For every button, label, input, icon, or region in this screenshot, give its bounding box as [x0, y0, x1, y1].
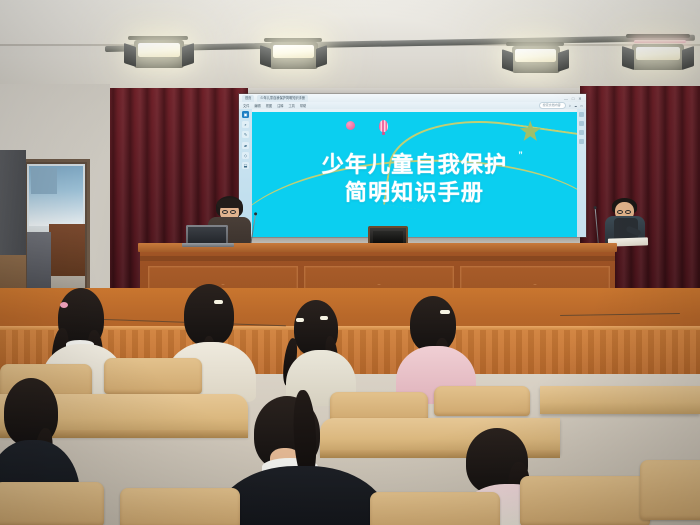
right-tool-sidebar	[577, 109, 586, 237]
stage-light-4	[620, 34, 696, 82]
share-icon[interactable]: ⇪	[569, 104, 572, 108]
student-hair	[410, 296, 456, 352]
desk-row-2-far-right	[540, 386, 700, 414]
app-titlebar: 首页 少年儿童自我保护简明知识手册 — □ ✕	[239, 94, 586, 102]
light-barn-door-left	[260, 45, 271, 68]
light-yoke	[626, 34, 690, 38]
menu-item-view[interactable]: 视图	[266, 103, 272, 108]
hair-clip	[320, 316, 328, 320]
hair-clip	[296, 318, 304, 322]
presentation-slide: ” 少年儿童自我保护 简明知识手册	[252, 112, 577, 237]
light-lamp	[273, 45, 314, 58]
cloud-icon[interactable]: ☁	[574, 104, 577, 108]
chair-back[interactable]	[370, 492, 500, 525]
tab-document[interactable]: 少年儿童自我保护简明知识手册	[257, 95, 308, 102]
slide-title: 少年儿童自我保护 简明知识手册	[252, 152, 577, 208]
highlight-icon[interactable]: ▰	[242, 142, 249, 149]
light-barn-door-left	[622, 46, 634, 70]
layers-icon[interactable]	[579, 130, 584, 135]
student-3	[282, 300, 358, 404]
app-search-area: 搜索文档内容 ⇪ ☁ ▭	[539, 102, 583, 109]
projection-screen: 首页 少年儿童自我保护简明知识手册 — □ ✕ 文件 编辑 视图 注释 工具 帮…	[239, 94, 586, 237]
podium-trim	[140, 256, 615, 261]
slide-title-line-1: 少年儿童自我保护	[322, 153, 508, 178]
seated-man	[612, 198, 656, 250]
light-barn-door-right	[316, 45, 327, 68]
chair-back[interactable]	[0, 482, 104, 525]
light-barn-door-right	[182, 43, 194, 67]
pen-icon[interactable]: ✎	[242, 131, 249, 138]
stamp-icon[interactable]: ⬓	[242, 162, 249, 169]
light-pink-tube	[634, 40, 686, 43]
student-6	[240, 396, 370, 525]
light-barn-door-right	[558, 49, 569, 72]
window-icon	[29, 166, 83, 226]
light-lamp	[636, 47, 680, 60]
app-body: ▣ ⌕ ✎ ▰ ◇ ⬓ ” 少年儿童自我保护 简明知识手册	[239, 109, 586, 237]
light-lamp	[515, 49, 556, 62]
zoom-icon[interactable]: ⌕	[242, 121, 249, 128]
hair-clip	[440, 310, 450, 314]
far-room-desk	[49, 224, 85, 276]
glasses-icon	[222, 210, 228, 214]
pink-balloon-icon	[346, 121, 355, 130]
stage-light-1	[122, 36, 194, 82]
hair-clip	[214, 300, 223, 304]
presenter-fringe	[217, 198, 242, 208]
auditorium-photo: 首页 少年儿童自我保护简明知识手册 — □ ✕ 文件 编辑 视图 注释 工具 帮…	[0, 0, 700, 525]
chair-back[interactable]	[434, 386, 530, 416]
laptop-keyboard	[182, 243, 234, 247]
glasses-icon	[625, 210, 631, 214]
tab-home[interactable]: 首页	[242, 95, 254, 102]
light-barn-door-left	[502, 49, 513, 72]
hot-air-balloon-icon	[379, 120, 388, 132]
chair-back[interactable]	[640, 460, 700, 520]
far-room-chair	[27, 232, 51, 294]
slide-title-line-2: 简明知识手册	[252, 180, 577, 208]
menu-item-edit[interactable]: 编辑	[254, 103, 260, 108]
menu-item-annotate[interactable]: 注释	[277, 103, 283, 108]
bookmark-icon[interactable]	[579, 121, 584, 126]
light-barn-door-right	[682, 46, 694, 70]
stage-light-3	[500, 42, 570, 88]
menu-item-tools[interactable]: 工具	[289, 103, 295, 108]
menu-item-help[interactable]: 帮助	[300, 103, 306, 108]
select-tool-icon[interactable]: ▣	[242, 111, 249, 118]
shape-icon[interactable]: ◇	[242, 152, 249, 159]
settings-icon[interactable]	[579, 139, 584, 144]
window-controls[interactable]: — □ ✕	[564, 96, 583, 101]
glasses-icon	[230, 210, 236, 214]
chair-back[interactable]	[120, 488, 240, 525]
comment-icon[interactable]: ▭	[580, 104, 583, 108]
glasses-icon	[617, 210, 623, 214]
light-lamp	[138, 43, 180, 57]
pink-hair-bow	[60, 302, 68, 308]
thumbnail-icon[interactable]	[579, 112, 584, 117]
menu-item-file[interactable]: 文件	[243, 103, 249, 108]
chair-back[interactable]	[104, 358, 202, 394]
window-blind	[31, 168, 57, 194]
student-dark-uniform	[214, 466, 390, 525]
light-barn-door-left	[124, 43, 136, 67]
chair-back[interactable]	[520, 476, 650, 525]
stage-light-2	[258, 38, 328, 84]
app-menubar: 文件 编辑 视图 注释 工具 帮助	[239, 102, 586, 109]
